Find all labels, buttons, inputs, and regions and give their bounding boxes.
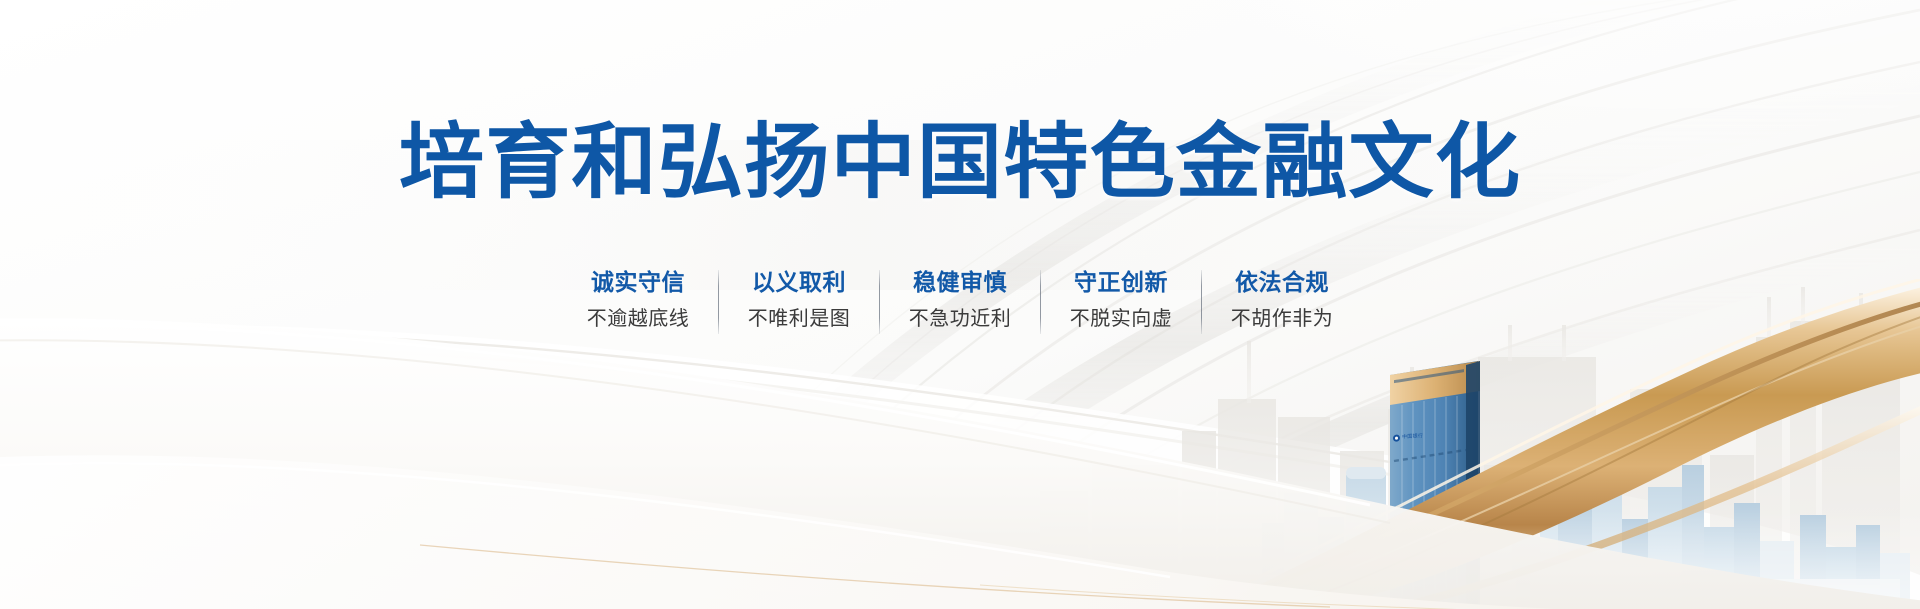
slogan-sub-4: 不脱实向虚 [1070,303,1173,333]
slogan-list: 诚实守信 不逾越底线 以义取利 不唯利是图 稳健审慎 不急功近利 守正创新 不脱… [0,268,1920,334]
slogan-divider-4 [1201,270,1202,334]
slogan-main-4: 守正创新 [1074,268,1168,298]
slogan-sub-2: 不唯利是图 [748,303,851,333]
slogan-item-2: 以义取利 不唯利是图 [723,268,875,333]
page-title: 培育和弘扬中国特色金融文化 [0,122,1920,204]
slogan-item-4: 守正创新 不脱实向虚 [1045,268,1197,333]
slogan-main-1: 诚实守信 [591,268,685,298]
slogan-item-1: 诚实守信 不逾越底线 [562,268,714,333]
slogan-sub-5: 不胡作非为 [1231,303,1334,333]
slogan-sub-3: 不急功近利 [909,303,1012,333]
slogan-divider-3 [1040,270,1041,334]
slogan-item-5: 依法合规 不胡作非为 [1206,268,1358,333]
slogan-divider-1 [718,270,719,334]
slogan-main-3: 稳健审慎 [913,268,1007,298]
slogan-sub-1: 不逾越底线 [587,303,690,333]
banner-content: 培育和弘扬中国特色金融文化 诚实守信 不逾越底线 以义取利 不唯利是图 稳健审慎… [0,0,1920,609]
slogan-item-3: 稳健审慎 不急功近利 [884,268,1036,333]
banner-root: 中国银行 [0,0,1920,609]
slogan-divider-2 [879,270,880,334]
slogan-main-2: 以义取利 [752,268,846,298]
slogan-main-5: 依法合规 [1235,268,1329,298]
